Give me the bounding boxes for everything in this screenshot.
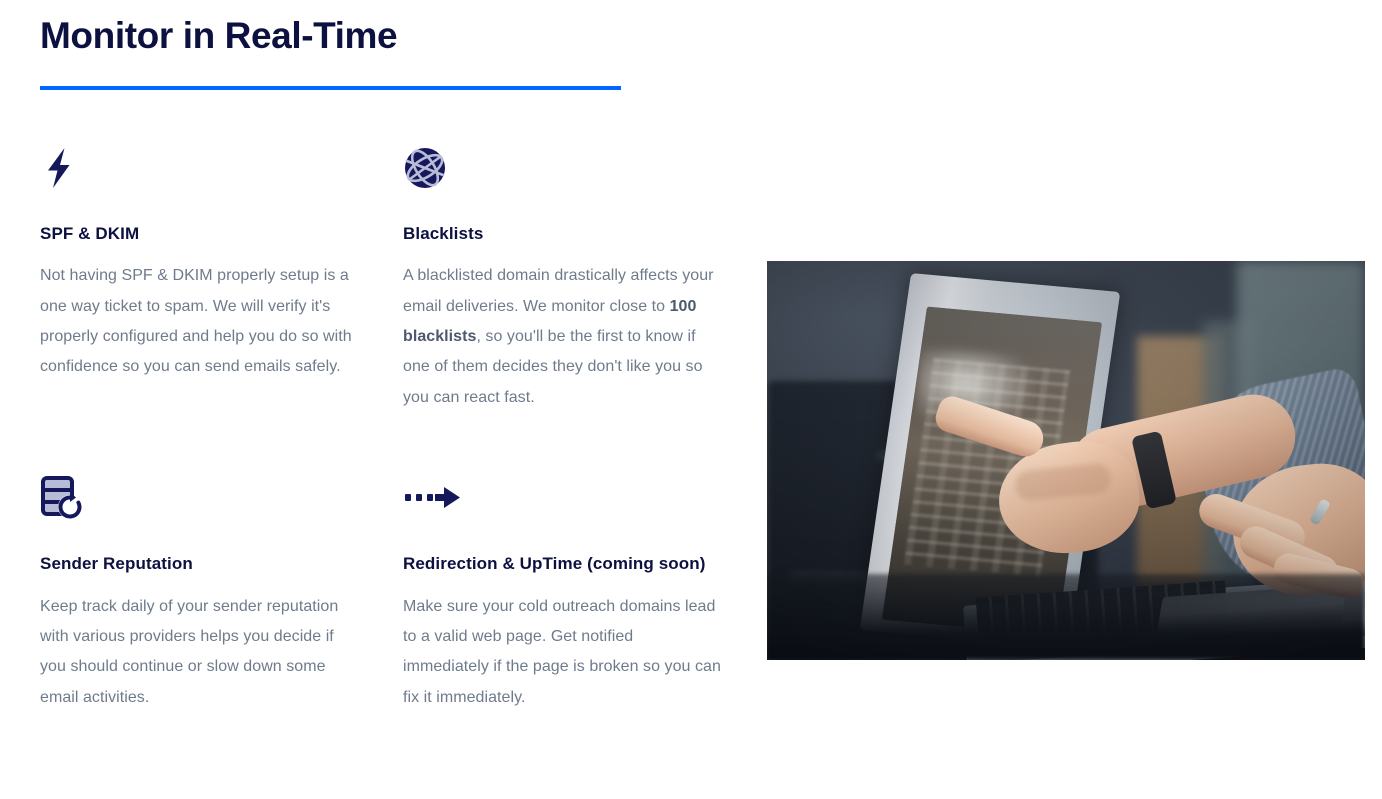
section-header: Monitor in Real-Time bbox=[40, 14, 640, 90]
feature-title: SPF & DKIM bbox=[40, 219, 403, 249]
feature-body: A blacklisted domain drastically affects… bbox=[403, 261, 723, 413]
feature-row-2: Sender Reputation Keep track daily of yo… bbox=[40, 470, 740, 713]
feature-grid: SPF & DKIM Not having SPF & DKIM properl… bbox=[40, 140, 740, 713]
feature-section: Monitor in Real-Time SPF & DKIM Not havi… bbox=[0, 0, 1382, 799]
server-refresh-icon bbox=[40, 470, 403, 526]
lightning-bolt-icon bbox=[40, 140, 403, 196]
feature-card-spf-dkim: SPF & DKIM Not having SPF & DKIM properl… bbox=[40, 140, 403, 413]
feature-body: Not having SPF & DKIM properly setup is … bbox=[40, 261, 360, 383]
laptop-hands-photo bbox=[767, 261, 1365, 660]
feature-body-text: Make sure your cold outreach domains lea… bbox=[403, 598, 725, 706]
feature-title: Sender Reputation bbox=[40, 549, 403, 579]
page-title: Monitor in Real-Time bbox=[40, 14, 640, 58]
title-underline-rule bbox=[40, 86, 621, 90]
dashed-arrow-right-icon bbox=[403, 470, 740, 526]
feature-body: Make sure your cold outreach domains lea… bbox=[403, 592, 723, 714]
feature-card-blacklists: Blacklists A blacklisted domain drastica… bbox=[403, 140, 740, 413]
feature-card-redirection-uptime: Redirection & UpTime (coming soon) Make … bbox=[403, 470, 740, 713]
feature-body: Keep track daily of your sender reputati… bbox=[40, 592, 360, 714]
feature-row-1: SPF & DKIM Not having SPF & DKIM properl… bbox=[40, 140, 740, 413]
feature-card-sender-reputation: Sender Reputation Keep track daily of yo… bbox=[40, 470, 403, 713]
feature-title: Redirection & UpTime (coming soon) bbox=[403, 549, 740, 579]
feature-title: Blacklists bbox=[403, 219, 740, 249]
feature-body-text: Keep track daily of your sender reputati… bbox=[40, 598, 343, 706]
feature-body-text: Not having SPF & DKIM properly setup is … bbox=[40, 267, 356, 375]
photo-desk-foreground bbox=[767, 574, 1365, 660]
globe-icon bbox=[403, 140, 740, 196]
